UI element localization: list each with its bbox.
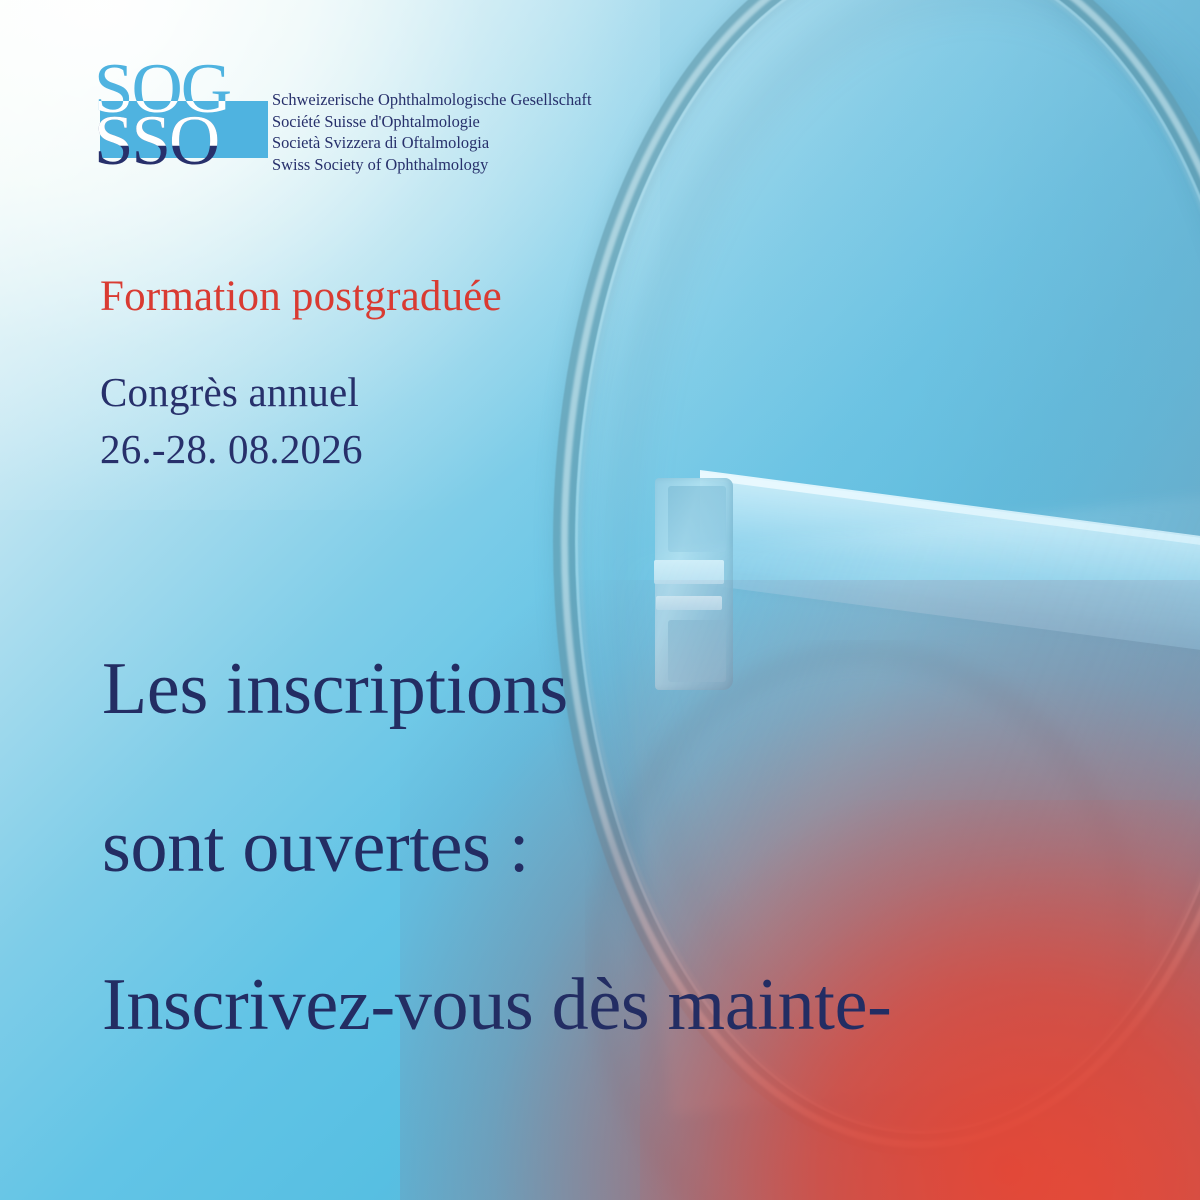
kicker-formation-postgraduee: Formation postgraduée [100, 274, 502, 320]
headline-line-1-text: Les inscriptions [102, 648, 568, 730]
event-line-congress-text: Congrès annuel [100, 369, 359, 415]
event-line-congress: Congrès annuel [96, 364, 363, 421]
logo-mark: SOG SSO SSO SOG [98, 62, 268, 190]
headline-block: Les inscriptions sont ouvertes : Inscriv… [96, 610, 897, 1084]
headline-line-2-text: sont ouvertes : [102, 806, 529, 888]
hinge-notch-upper [668, 486, 726, 552]
event-line-date: 26.-28. 08.2026 [96, 421, 367, 478]
headline-line-2: sont ouvertes : [96, 768, 535, 926]
headline-line-1: Les inscriptions [96, 610, 574, 768]
event-info-block: Congrès annuel 26.-28. 08.2026 [96, 364, 367, 478]
logo-society-names: Schweizerische Ophthalmologische Gesells… [272, 89, 592, 175]
logo-name-en: Swiss Society of Ophthalmology [272, 154, 592, 176]
event-line-date-text: 26.-28. 08.2026 [100, 426, 363, 472]
sog-sso-logo: SOG SSO SSO SOG Schweizerische Ophthalmo… [98, 62, 638, 194]
logo-name-it: Società Svizzera di Oftalmologia [272, 132, 592, 154]
poster-canvas: SOG SSO SSO SOG Schweizerische Ophthalmo… [0, 0, 1200, 1200]
logo-name-fr: Société Suisse d'Ophtalmologie [272, 111, 592, 133]
headline-line-3: Inscrivez-vous dès mainte- [96, 926, 897, 1084]
logo-name-de: Schweizerische Ophthalmologische Gesells… [272, 89, 592, 111]
headline-line-3-text: Inscrivez-vous dès mainte- [102, 964, 891, 1046]
